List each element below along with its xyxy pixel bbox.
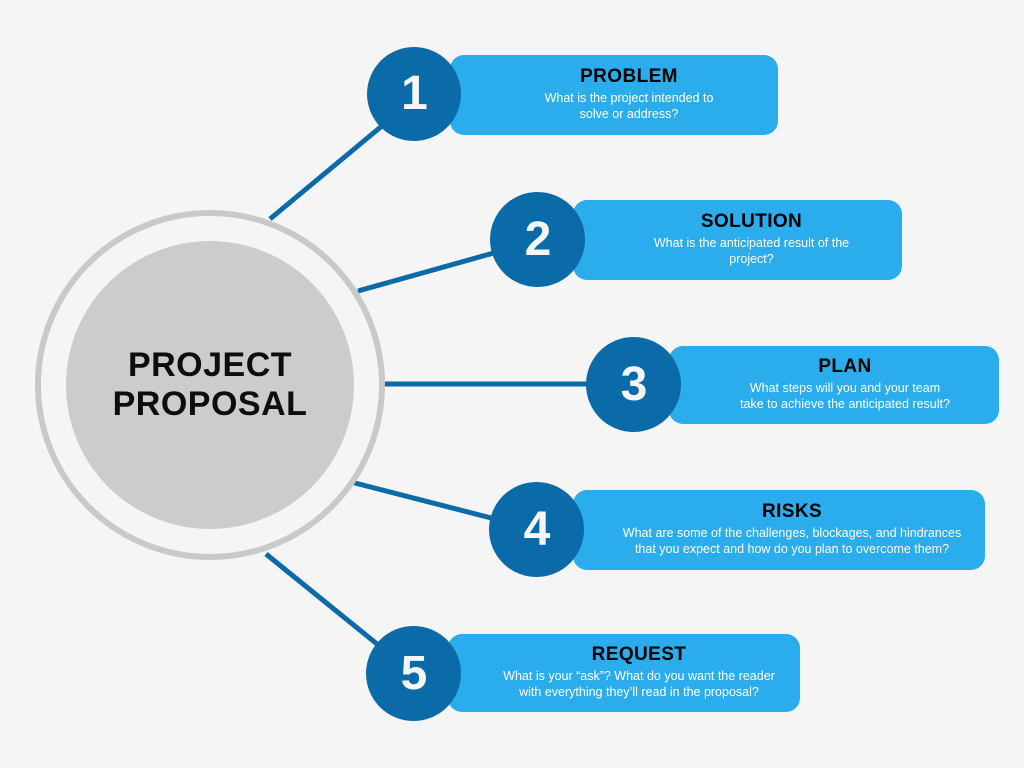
- step-description-3: What steps will you and your team take t…: [740, 381, 950, 412]
- step-number-circle-3[interactable]: 3: [586, 337, 681, 432]
- step-number-2: 2: [525, 216, 551, 264]
- step-number-5: 5: [401, 650, 427, 698]
- step-title-2: SOLUTION: [701, 212, 802, 233]
- step-bar-2[interactable]: SOLUTION What is the anticipated result …: [573, 200, 902, 280]
- step-bar-3[interactable]: PLAN What steps will you and your team t…: [669, 346, 999, 424]
- central-hub: PROJECT PROPOSAL: [35, 210, 385, 560]
- step-number-1: 1: [401, 70, 427, 118]
- step-bar-4[interactable]: RISKS What are some of the challenges, b…: [573, 490, 985, 570]
- step-number-circle-2[interactable]: 2: [490, 192, 585, 287]
- step-title-5: REQUEST: [592, 645, 687, 666]
- step-description-5: What is your “ask”? What do you want the…: [503, 669, 775, 700]
- step-title-1: PROBLEM: [580, 67, 678, 88]
- project-proposal-diagram: PROJECT PROPOSAL PROBLEM What is the pro…: [0, 0, 1024, 768]
- step-number-circle-5[interactable]: 5: [366, 626, 461, 721]
- step-bar-5[interactable]: REQUEST What is your “ask”? What do you …: [448, 634, 800, 712]
- step-title-3: PLAN: [818, 357, 871, 378]
- step-description-2: What is the anticipated result of the pr…: [654, 236, 849, 267]
- step-title-4: RISKS: [762, 502, 822, 523]
- step-bar-1[interactable]: PROBLEM What is the project intended to …: [450, 55, 778, 135]
- step-number-3: 3: [621, 361, 647, 409]
- step-description-4: What are some of the challenges, blockag…: [623, 526, 961, 557]
- step-number-circle-1[interactable]: 1: [367, 47, 461, 141]
- hub-title: PROJECT PROPOSAL: [113, 346, 308, 425]
- step-number-circle-4[interactable]: 4: [489, 482, 584, 577]
- step-number-4: 4: [524, 506, 550, 554]
- step-description-1: What is the project intended to solve or…: [545, 91, 714, 122]
- hub-inner-circle: PROJECT PROPOSAL: [66, 241, 354, 529]
